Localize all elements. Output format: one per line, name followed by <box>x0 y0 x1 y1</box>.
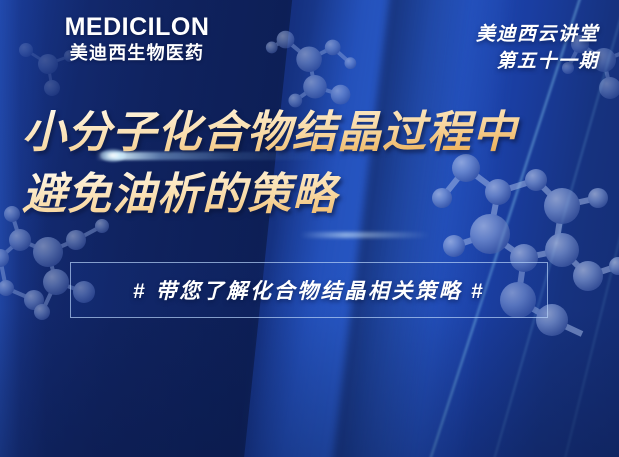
subtitle-text: # 带您了解化合物结晶相关策略 # <box>70 262 548 318</box>
title-line-2: 避免油析的策略 <box>22 166 612 224</box>
series-label: 美迪西云讲堂 第五十一期 <box>476 22 599 76</box>
molecule-icon <box>256 14 374 118</box>
series-name: 美迪西云讲堂 <box>476 22 599 49</box>
webinar-poster: MEDICILON 美迪西生物医药 美迪西云讲堂 第五十一期 小分子化合物结晶过… <box>0 0 619 457</box>
brand-logo: MEDICILON 美迪西生物医药 <box>42 14 232 65</box>
brand-logo-cn: 美迪西生物医药 <box>42 43 232 65</box>
series-episode: 第五十一期 <box>476 49 599 76</box>
page-title: 小分子化合物结晶过程中 避免油析的策略 <box>22 104 612 224</box>
brand-logo-en: MEDICILON <box>42 14 232 41</box>
title-line-1: 小分子化合物结晶过程中 <box>22 104 612 162</box>
